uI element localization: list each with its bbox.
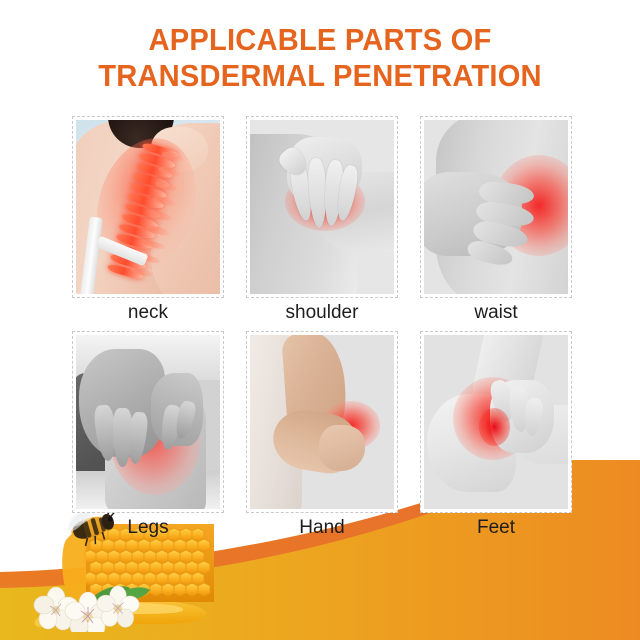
grid-row-1: neck shoulder [72, 116, 572, 328]
ankle-pain-photo [424, 335, 568, 509]
card-hand[interactable]: Hand [246, 331, 398, 543]
card-label-waist: waist [420, 298, 572, 328]
card-legs[interactable]: Legs [72, 331, 224, 543]
card-label-shoulder: shoulder [246, 298, 398, 328]
card-neck[interactable]: neck [72, 116, 224, 328]
flower-blossom-icon [33, 586, 150, 632]
card-label-legs: Legs [72, 513, 224, 543]
grid-row-2: Legs Hand [72, 331, 572, 543]
card-waist[interactable]: waist [420, 116, 572, 328]
photo-frame-feet [420, 331, 572, 513]
title-line-1: APPLICABLE PARTS OF [19, 22, 621, 58]
neck-pain-photo [76, 120, 220, 294]
poster-canvas: APPLICABLE PARTS OF TRANSDERMAL PENETRAT… [0, 0, 640, 640]
page-title: APPLICABLE PARTS OF TRANSDERMAL PENETRAT… [0, 22, 640, 94]
photo-frame-neck [72, 116, 224, 298]
photo-frame-waist [420, 116, 572, 298]
card-label-hand: Hand [246, 513, 398, 543]
photo-frame-shoulder [246, 116, 398, 298]
card-feet[interactable]: Feet [420, 331, 572, 543]
body-parts-grid: neck shoulder [72, 116, 572, 546]
elbow-pain-photo [250, 335, 394, 509]
photo-frame-legs [72, 331, 224, 513]
title-line-2: TRANSDERMAL PENETRATION [19, 58, 621, 94]
card-label-neck: neck [72, 298, 224, 328]
card-label-feet: Feet [420, 513, 572, 543]
knee-pain-photo [76, 335, 220, 509]
waist-pain-photo [424, 120, 568, 294]
photo-frame-hand [246, 331, 398, 513]
shoulder-pain-photo [250, 120, 394, 294]
card-shoulder[interactable]: shoulder [246, 116, 398, 328]
